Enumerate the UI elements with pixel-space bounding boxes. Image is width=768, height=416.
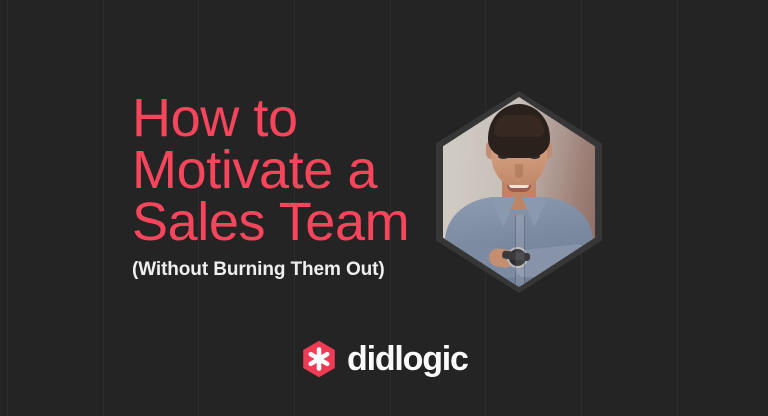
portrait-shirt-placket (515, 215, 525, 285)
portrait-hexagon (436, 91, 602, 293)
subtitle: (Without Burning Them Out) (132, 258, 385, 282)
headline-line-1: How to (132, 92, 409, 144)
gridline-0 (7, 0, 8, 416)
portrait-nose (515, 164, 523, 178)
headline-line-2: Motivate a (132, 144, 409, 196)
brand-wordmark: didlogic (347, 342, 468, 376)
headline-line-3: Sales Team (132, 196, 409, 248)
slide-canvas: How to Motivate a Sales Team (Without Bu… (0, 0, 768, 416)
brand-logo[interactable]: didlogic (302, 340, 468, 378)
gridline-7 (677, 0, 678, 416)
didlogic-hexagon-asterisk-icon (302, 340, 336, 378)
portrait-mouth (507, 185, 531, 192)
gridline-1 (103, 0, 104, 416)
page-title: How to Motivate a Sales Team (132, 92, 409, 248)
